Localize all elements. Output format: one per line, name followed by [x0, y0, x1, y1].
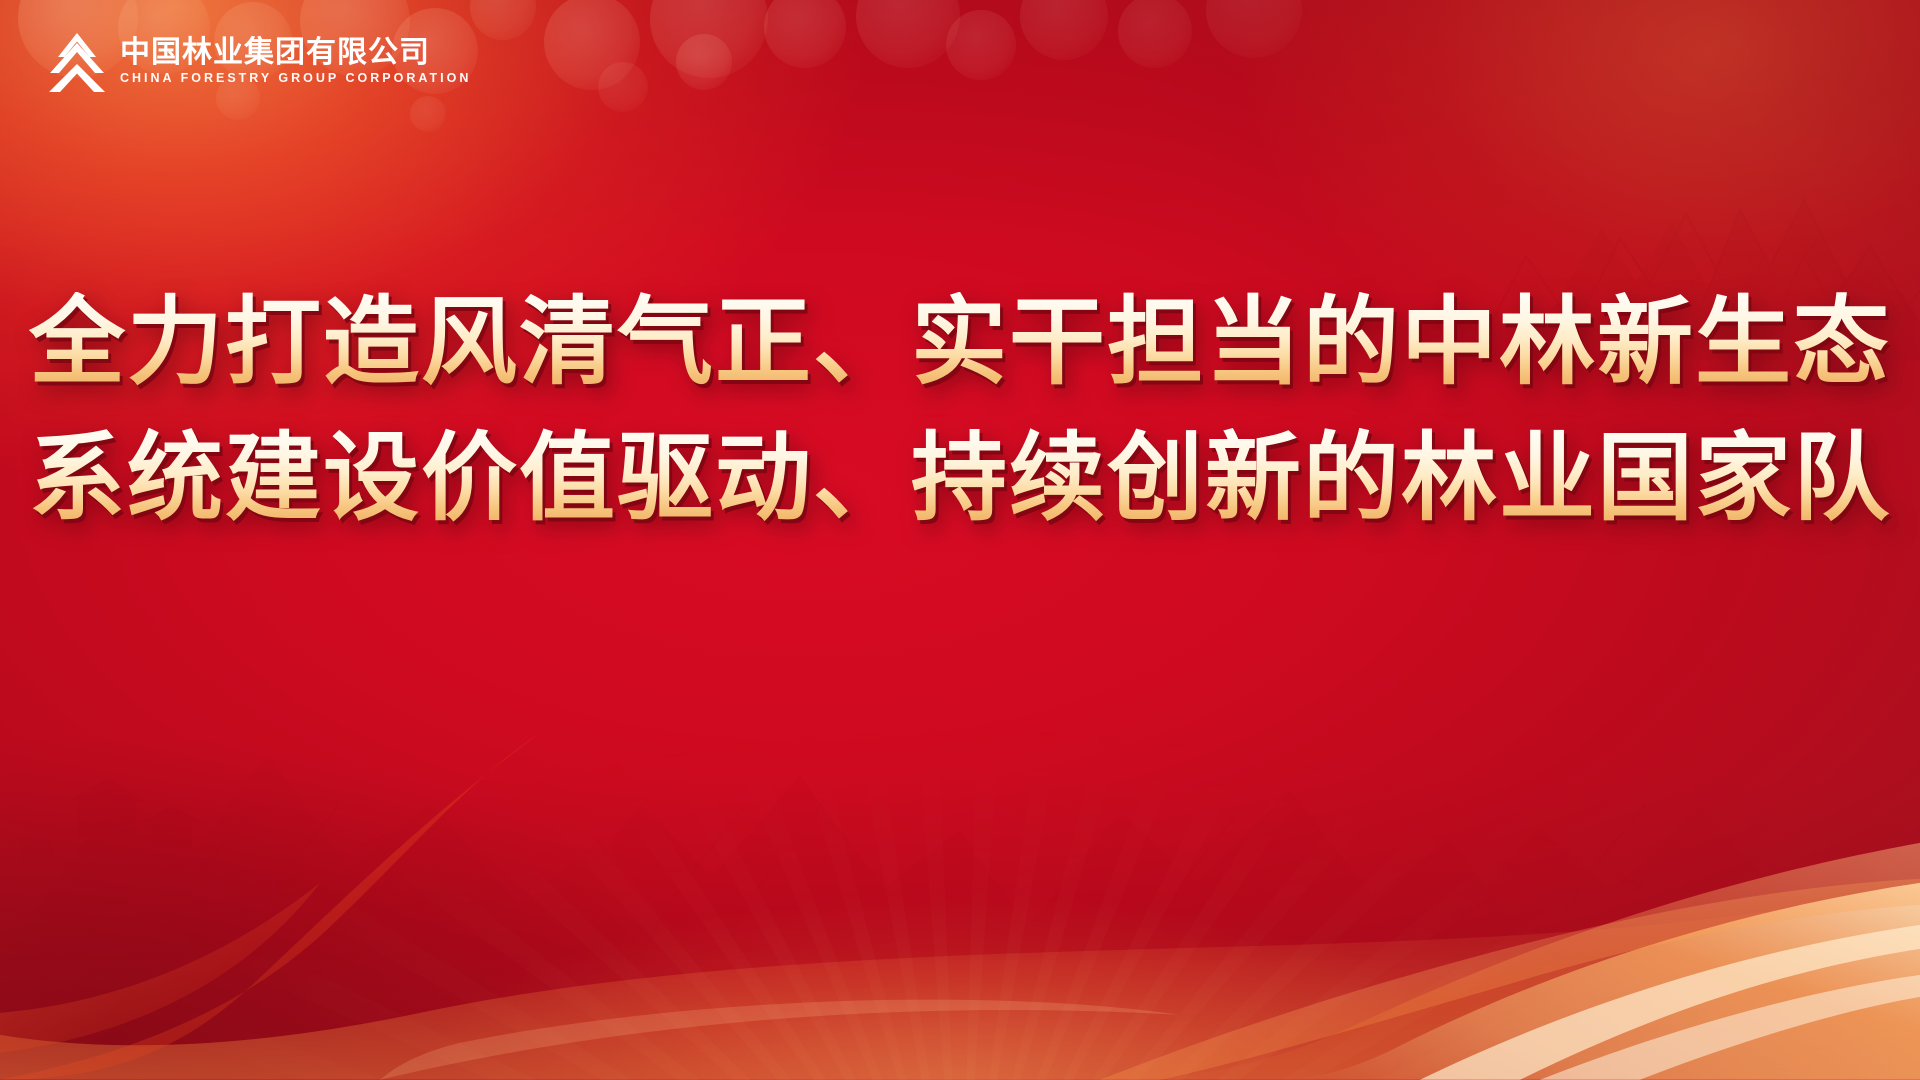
- headline-line-2: 系统建设价值驱动、持续创新的林业国家队: [29, 428, 1891, 530]
- forestry-pagoda-tree-icon: [48, 30, 106, 92]
- bokeh-circle: [598, 62, 648, 112]
- bokeh-circle: [946, 10, 1016, 80]
- logo-company-name-en: CHINA FORESTRY GROUP CORPORATION: [120, 72, 471, 85]
- bokeh-circle-layer: [0, 0, 1920, 1080]
- logo-company-name-cn: 中国林业集团有限公司: [120, 38, 471, 68]
- headline-line-1: 全力打造风清气正、实干担当的中林新生态: [29, 292, 1891, 394]
- poster-canvas: 中国林业集团有限公司 CHINA FORESTRY GROUP CORPORAT…: [0, 0, 1920, 1080]
- bokeh-circle: [1118, 0, 1192, 68]
- bokeh-circle: [764, 0, 846, 68]
- bokeh-circle: [650, 0, 768, 78]
- company-logo[interactable]: 中国林业集团有限公司 CHINA FORESTRY GROUP CORPORAT…: [48, 30, 471, 92]
- bokeh-circle: [410, 96, 446, 132]
- bokeh-circle: [1020, 0, 1108, 60]
- bokeh-circle: [676, 34, 732, 90]
- headline-block: 全力打造风清气正、实干担当的中林新生态 系统建设价值驱动、持续创新的林业国家队: [0, 292, 1920, 530]
- logo-text-block: 中国林业集团有限公司 CHINA FORESTRY GROUP CORPORAT…: [120, 38, 471, 85]
- bokeh-circle: [544, 0, 640, 90]
- bokeh-circle: [1206, 0, 1302, 58]
- bokeh-circle: [470, 0, 536, 40]
- bokeh-circle: [856, 0, 960, 68]
